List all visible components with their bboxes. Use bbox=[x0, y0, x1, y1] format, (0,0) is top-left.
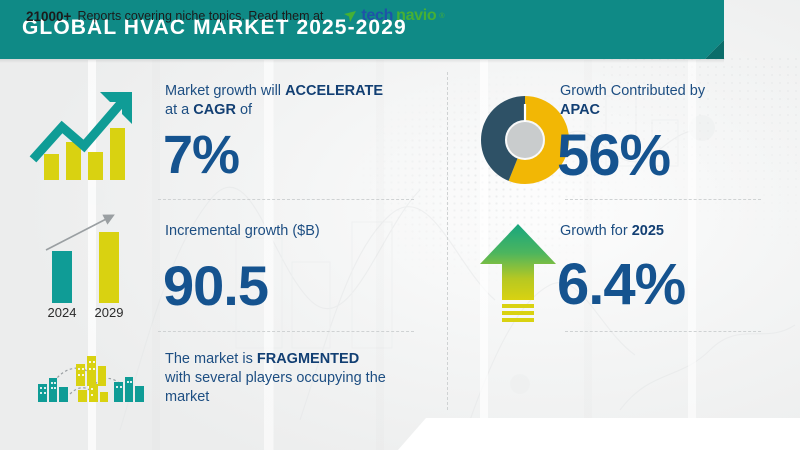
divider-right-1 bbox=[565, 199, 761, 200]
cagr-caption-accelerate: ACCELERATE bbox=[285, 83, 383, 99]
cagr-caption-line1-plain: Market growth will bbox=[165, 83, 285, 99]
fragmentation-line3: market bbox=[165, 389, 209, 405]
growth-chart-icon bbox=[28, 80, 146, 185]
technavio-logo[interactable]: technavio® bbox=[343, 7, 444, 25]
market-fragmentation-icon bbox=[26, 348, 148, 410]
bar-label-2029: 2029 bbox=[95, 305, 124, 320]
growth2025-value: 6.4% bbox=[557, 251, 685, 318]
apac-value: 56% bbox=[557, 122, 670, 189]
divider-left-2 bbox=[158, 331, 414, 332]
bar-label-2024: 2024 bbox=[48, 305, 77, 320]
fragmentation-caption: The market is FRAGMENTED with several pl… bbox=[165, 350, 445, 407]
fragmentation-line1-plain: The market is bbox=[165, 351, 257, 367]
cagr-caption-line2-plain-a: at a bbox=[165, 102, 193, 118]
apac-caption-line1: Growth Contributed by bbox=[560, 83, 705, 99]
up-arrow-icon bbox=[478, 222, 558, 322]
column-divider bbox=[447, 72, 448, 410]
logo-trademark: ® bbox=[439, 13, 444, 20]
footer-content: 21000+ Reports covering niche topics. Re… bbox=[26, 7, 445, 25]
fragmentation-line2: with several players occupying the bbox=[165, 370, 386, 386]
infographic-canvas: GLOBAL HVAC MARKET 2025-2029 Market grow… bbox=[0, 0, 800, 450]
cagr-caption: Market growth will ACCELERATE at a CAGR … bbox=[165, 82, 435, 120]
cagr-caption-cagr: CAGR bbox=[193, 102, 236, 118]
divider-left-1 bbox=[158, 199, 414, 200]
logo-text-navio: navio bbox=[396, 7, 436, 25]
apac-caption-apac: APAC bbox=[560, 102, 600, 118]
growth2025-caption-year: 2025 bbox=[632, 223, 664, 239]
header-shadow bbox=[0, 59, 724, 63]
incremental-caption: Incremental growth ($B) bbox=[165, 222, 320, 241]
technavio-mark-icon bbox=[343, 9, 358, 24]
divider-right-2 bbox=[565, 331, 761, 332]
logo-text-tech: tech bbox=[361, 7, 393, 25]
footer-text: Reports covering niche topics. Read them… bbox=[77, 9, 323, 23]
apac-caption: Growth Contributed by APAC bbox=[560, 82, 790, 120]
footer-banner bbox=[398, 418, 800, 450]
fragmentation-fragmented: FRAGMENTED bbox=[257, 351, 359, 367]
growth2025-caption: Growth for 2025 bbox=[560, 222, 664, 241]
cagr-caption-line2-plain-b: of bbox=[236, 102, 252, 118]
report-count: 21000+ bbox=[26, 9, 71, 24]
incremental-value: 90.5 bbox=[163, 253, 268, 318]
cagr-value: 7% bbox=[163, 124, 239, 186]
bar-chart-icon: 2024 2029 bbox=[28, 206, 148, 324]
growth2025-caption-plain: Growth for bbox=[560, 223, 632, 239]
